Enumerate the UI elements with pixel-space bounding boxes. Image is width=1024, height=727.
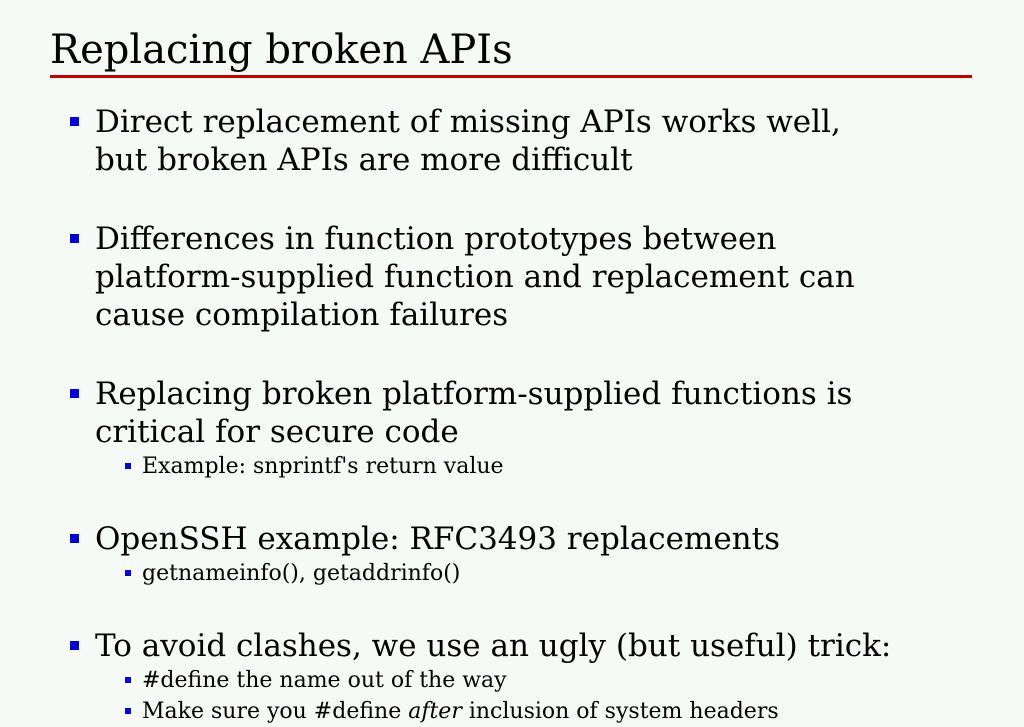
sub-bullet-item: #define the name out of the way <box>0 665 1024 696</box>
bullet-line: Replacing broken platform-supplied funct… <box>95 375 1024 413</box>
bullet-item: Replacing broken platform-supplied funct… <box>0 375 1024 451</box>
bullet-item: Direct replacement of missing APIs works… <box>0 103 1024 179</box>
bullet-square-icon <box>70 117 79 126</box>
sub-bullet-line: Example: snprintf's return value <box>142 451 1024 482</box>
sub-bullet-line-rich: Make sure you #define after inclusion of… <box>142 696 1024 727</box>
slide: Replacing broken APIs Direct replacement… <box>0 0 1024 724</box>
bullet-square-icon <box>70 234 79 243</box>
bullet-line: critical for secure code <box>95 413 1024 451</box>
bullet-square-icon <box>70 389 79 398</box>
bullet-line: cause compilation failures <box>95 296 1024 334</box>
plain-text: inclusion of system headers <box>462 699 779 724</box>
sub-bullet-line: getnameinfo(), getaddrinfo() <box>142 558 1024 589</box>
bullet-line: platform-supplied function and replaceme… <box>95 258 1024 296</box>
slide-body: Direct replacement of missing APIs works… <box>0 103 1024 727</box>
block-spacer <box>0 589 1024 627</box>
block-spacer <box>0 179 1024 220</box>
bullet-line: OpenSSH example: RFC3493 replacements <box>95 520 1024 558</box>
page-title: Replacing broken APIs <box>50 28 974 72</box>
bullet-line: Differences in function prototypes betwe… <box>95 220 1024 258</box>
bullet-item: To avoid clashes, we use an ugly (but us… <box>0 627 1024 665</box>
title-block: Replacing broken APIs <box>50 28 974 72</box>
sub-bullet-square-icon <box>125 708 131 714</box>
bullet-line: but broken APIs are more difficult <box>95 141 1024 179</box>
title-underline-rule <box>50 75 972 78</box>
plain-text: Make sure you #define <box>142 699 408 724</box>
sub-bullet-square-icon <box>125 677 131 683</box>
bullet-item: OpenSSH example: RFC3493 replacements <box>0 520 1024 558</box>
sub-bullet-item: Make sure you #define after inclusion of… <box>0 696 1024 727</box>
sub-bullet-square-icon <box>125 463 131 469</box>
block-spacer <box>0 482 1024 520</box>
bullet-square-icon <box>70 641 79 650</box>
emphasis-text: after <box>408 699 462 724</box>
sub-bullet-item: Example: snprintf's return value <box>0 451 1024 482</box>
block-spacer <box>0 334 1024 375</box>
bullet-line: To avoid clashes, we use an ugly (but us… <box>95 627 1024 665</box>
sub-bullet-item: getnameinfo(), getaddrinfo() <box>0 558 1024 589</box>
sub-bullet-line: #define the name out of the way <box>142 665 1024 696</box>
bullet-item: Differences in function prototypes betwe… <box>0 220 1024 334</box>
bullet-square-icon <box>70 534 79 543</box>
sub-bullet-square-icon <box>125 570 131 576</box>
bullet-line: Direct replacement of missing APIs works… <box>95 103 1024 141</box>
